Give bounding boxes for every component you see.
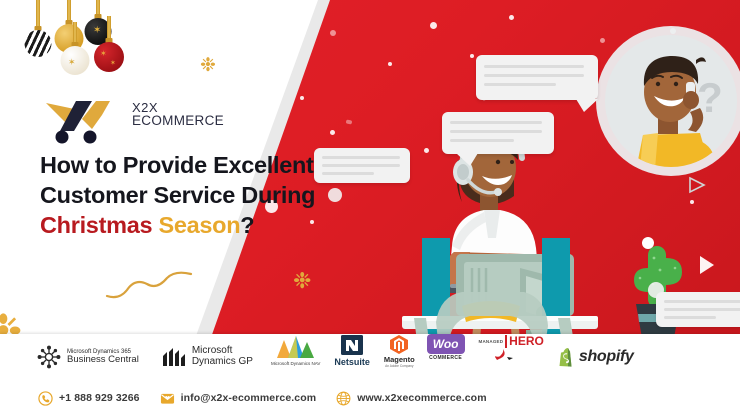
snowflake-icon: ❉ — [293, 270, 311, 292]
phone-icon — [38, 391, 53, 406]
partner-logo-shopify: shopify — [558, 334, 634, 380]
speech-bubble — [476, 55, 598, 100]
headline-season: Season — [152, 212, 240, 238]
contact-bar: +1 888 929 3266 info@x2x-ecommerce.com w… — [0, 380, 740, 416]
christmas-ornaments: ✶ ✶ ✶ ✶ — [0, 0, 150, 100]
globe-icon — [336, 391, 351, 406]
contact-website-text: www.x2xecommerce.com — [357, 392, 486, 404]
logo-text-line2: ECOMMERCE — [132, 114, 224, 128]
shopify-icon — [558, 347, 576, 367]
partner-label: HERO — [509, 334, 544, 348]
speech-bubble — [656, 292, 740, 327]
red-star-ornament: ✶ ✶ — [92, 16, 126, 84]
partner-logo-managed-hero: MANAGED HERO — [479, 334, 544, 380]
business-central-icon — [36, 344, 62, 370]
netsuite-icon — [339, 334, 365, 356]
striped-ornament — [22, 0, 54, 62]
snowflake-icon: ❉ — [200, 56, 216, 75]
partner-logo-netsuite: Netsuite — [334, 334, 370, 380]
magento-icon — [389, 334, 409, 354]
partner-label: Microsoft Dynamics NAV — [271, 361, 320, 366]
contact-email-text: info@x2x-ecommerce.com — [181, 392, 317, 404]
partner-label: Business Central — [67, 355, 139, 365]
white-gold-ornament: ✶ — [58, 22, 92, 84]
headline-christmas: Christmas — [40, 212, 152, 238]
partner-label: Magento — [384, 355, 415, 364]
partner-logo-magento: Magento An Adobe Company — [384, 334, 415, 380]
speech-bubble — [442, 112, 554, 154]
partner-label: Netsuite — [334, 357, 370, 367]
envelope-icon — [160, 391, 175, 406]
page-title: How to Provide Excellent Customer Servic… — [40, 150, 340, 240]
headline-line-1: How to Provide Excellent — [40, 152, 314, 178]
hero-cape-icon — [491, 348, 531, 361]
headline-question-mark: ? — [240, 212, 254, 238]
christmas-customer-service-banner: ? — [0, 0, 740, 416]
dynamics-gp-icon — [161, 346, 187, 368]
partner-label: shopify — [579, 348, 634, 366]
bubble-dot — [648, 282, 664, 298]
partner-logos-bar: Microsoft Dynamics 365 Business Central … — [0, 334, 740, 380]
partner-label: COMMERCE — [429, 355, 462, 361]
contact-email[interactable]: info@x2x-ecommerce.com — [160, 391, 317, 406]
partner-logo-dynamics-gp: Microsoft Dynamics GP — [161, 334, 253, 380]
logo-text-line1: X2X — [132, 101, 224, 114]
x2x-ecommerce-logo: X2X ECOMMERCE — [40, 95, 200, 147]
contact-phone-text: +1 888 929 3266 — [59, 392, 140, 404]
partner-logo-woocommerce: Woo COMMERCE — [427, 334, 465, 380]
customer-service-illustration: ? — [400, 0, 740, 380]
partner-label: MANAGED — [479, 339, 504, 344]
contact-website[interactable]: www.x2xecommerce.com — [336, 391, 486, 406]
partner-label: Woo — [433, 337, 459, 351]
dynamics-nav-icon — [274, 334, 318, 360]
headline-line-2: Customer Service During — [40, 182, 315, 208]
contact-phone[interactable]: +1 888 929 3266 — [38, 391, 140, 406]
partner-label: Dynamics GP — [192, 357, 253, 368]
x2x-cart-logo-icon — [40, 95, 130, 145]
partner-logo-business-central: Microsoft Dynamics 365 Business Central — [36, 334, 139, 380]
gold-wave-decoration — [105, 268, 205, 302]
partner-label: An Adobe Company — [385, 364, 413, 368]
partner-logo-dynamics-nav: Microsoft Dynamics NAV — [271, 334, 320, 380]
